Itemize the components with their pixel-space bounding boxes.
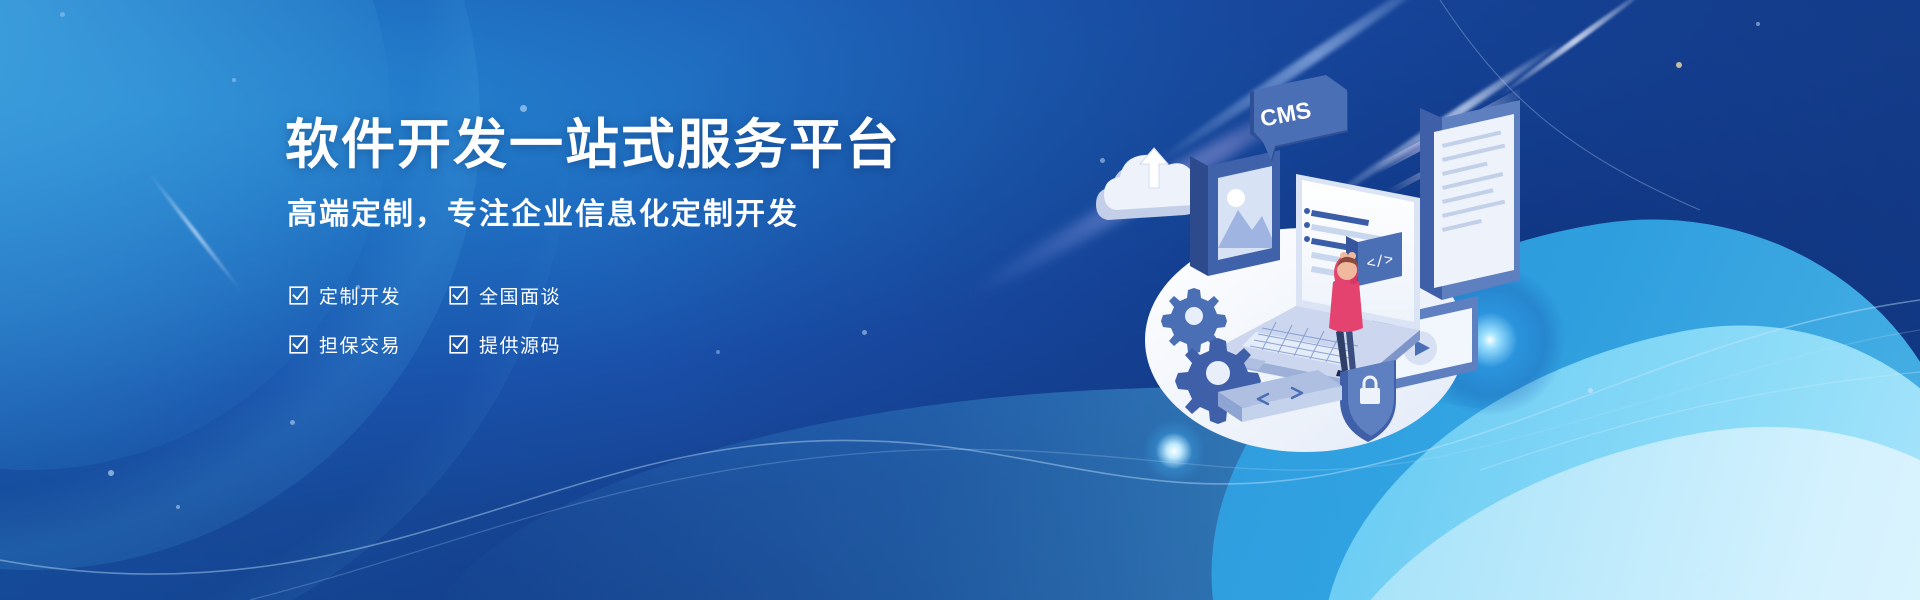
check-box-icon (449, 286, 468, 305)
check-box-icon (449, 335, 468, 354)
feature-label: 提供源码 (479, 331, 561, 358)
feature-item-source-code[interactable]: 提供源码 (449, 331, 609, 358)
decorative-dot (1676, 62, 1682, 68)
decorative-dot (108, 470, 114, 476)
feature-item-escrow[interactable]: 担保交易 (289, 331, 449, 358)
hero-illustration: CMS (1090, 70, 1520, 490)
check-box-icon (289, 286, 308, 305)
feature-label: 担保交易 (319, 331, 401, 358)
feature-row: 担保交易 提供源码 (289, 331, 709, 358)
feature-list: 定制开发 全国面谈 (289, 282, 709, 380)
image-card-icon (1190, 150, 1280, 276)
decorative-dot (60, 12, 65, 17)
feature-item-custom-dev[interactable]: 定制开发 (289, 282, 449, 309)
document-panel-right (1420, 100, 1520, 300)
check-box-icon (289, 335, 308, 354)
feature-label: 定制开发 (319, 282, 401, 309)
decorative-dot (232, 78, 236, 82)
banner-subtitle: 高端定制，专注企业信息化定制开发 (287, 200, 799, 230)
banner-content: 软件开发一站式服务平台 高端定制，专注企业信息化定制开发 定制开发 (285, 0, 925, 600)
feature-label: 全国面谈 (479, 282, 561, 309)
decorative-dot (176, 505, 180, 509)
hero-banner: 软件开发一站式服务平台 高端定制，专注企业信息化定制开发 定制开发 (0, 0, 1920, 600)
decorative-dot (1588, 388, 1593, 393)
decorative-dot (1756, 22, 1760, 26)
cms-badge: CMS (1250, 75, 1348, 162)
feature-item-nationwide-meeting[interactable]: 全国面谈 (449, 282, 609, 309)
decorative-dot (1700, 572, 1707, 579)
banner-title: 软件开发一站式服务平台 (285, 118, 901, 172)
feature-row: 定制开发 全国面谈 (289, 282, 709, 309)
